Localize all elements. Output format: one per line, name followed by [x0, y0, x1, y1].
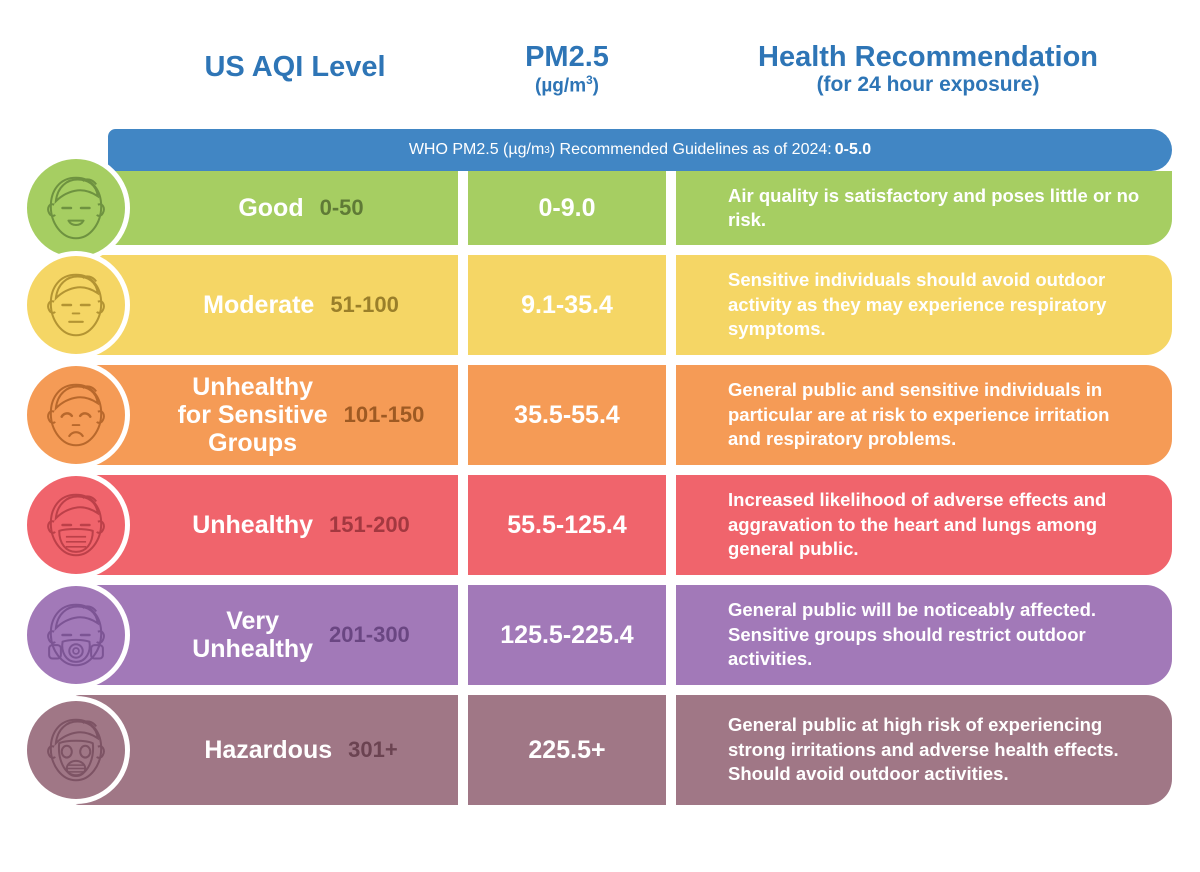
aqi-range-value: 101-150: [344, 402, 425, 428]
recommendation-text: General public and sensitive individuals…: [676, 378, 1172, 451]
aqi-range-value: 151-200: [329, 512, 410, 538]
recommendation-segment: General public and sensitive individuals…: [676, 365, 1172, 465]
recommendation-segment: Air quality is satisfactory and poses li…: [676, 171, 1172, 245]
level-label: Hazardous: [204, 736, 332, 764]
table-row: Good0-500-9.0Air quality is satisfactory…: [0, 171, 1200, 245]
face-neutral-icon: [22, 251, 130, 359]
aqi-range-value: 301+: [348, 737, 398, 763]
table-row: Moderate51-1009.1-35.4Sensitive individu…: [0, 255, 1200, 355]
aqi-range-value: 201-300: [329, 622, 410, 648]
pm25-segment: 125.5-225.4: [468, 585, 666, 685]
level-label: Good: [238, 194, 303, 222]
pm25-range-value: 125.5-225.4: [500, 621, 633, 650]
banner-text-part2: ) Recommended Guidelines as of 2024:: [550, 141, 832, 159]
pm25-range-value: 225.5+: [528, 736, 605, 765]
face-mask-icon: [22, 471, 130, 579]
header-health-title: Health Recommendation: [758, 41, 1098, 73]
recommendation-segment: General public will be noticeably affect…: [676, 585, 1172, 685]
banner-value: 0-5.0: [835, 141, 871, 159]
aqi-range-value: 0-50: [320, 195, 364, 221]
aqi-rows: Good0-500-9.0Air quality is satisfactory…: [0, 171, 1200, 815]
level-label: Moderate: [203, 291, 314, 319]
aqi-chart: US AQI Level PM2.5 (µg/m3) Health Recomm…: [0, 0, 1200, 872]
header-pm25: PM2.5 (µg/m3): [458, 42, 676, 97]
level-label: Very Unhealthy: [192, 607, 313, 663]
table-row: Hazardous301+225.5+General public at hig…: [0, 695, 1200, 805]
face-gasmask-icon: [22, 696, 130, 804]
recommendation-text: General public at high risk of experienc…: [676, 713, 1172, 786]
header-pm25-unit: (µg/m3): [458, 75, 676, 97]
pm25-segment: 225.5+: [468, 695, 666, 805]
pm25-range-value: 55.5-125.4: [507, 511, 627, 540]
face-smiling-icon: [22, 154, 130, 262]
header-pm25-title: PM2.5: [525, 41, 609, 73]
table-row: Unhealthy151-20055.5-125.4Increased like…: [0, 475, 1200, 575]
header-us-aqi-level: US AQI Level: [130, 52, 460, 83]
face-sad-icon: [22, 361, 130, 469]
recommendation-text: Sensitive individuals should avoid outdo…: [676, 268, 1172, 341]
recommendation-text: Increased likelihood of adverse effects …: [676, 488, 1172, 561]
pm25-segment: 9.1-35.4: [468, 255, 666, 355]
level-label: Unhealthy: [192, 511, 313, 539]
pm25-segment: 35.5-55.4: [468, 365, 666, 465]
recommendation-text: General public will be noticeably affect…: [676, 598, 1172, 671]
column-headers: US AQI Level PM2.5 (µg/m3) Health Recomm…: [0, 0, 1200, 128]
pm25-segment: 55.5-125.4: [468, 475, 666, 575]
pm25-range-value: 0-9.0: [539, 194, 596, 223]
recommendation-segment: Increased likelihood of adverse effects …: [676, 475, 1172, 575]
pm25-range-value: 35.5-55.4: [514, 401, 620, 430]
recommendation-text: Air quality is satisfactory and poses li…: [676, 184, 1172, 233]
pm25-segment: 0-9.0: [468, 171, 666, 245]
face-respirator-icon: [22, 581, 130, 689]
aqi-range-value: 51-100: [330, 292, 399, 318]
pm25-range-value: 9.1-35.4: [521, 291, 613, 320]
table-row: Unhealthy for Sensitive Groups101-15035.…: [0, 365, 1200, 465]
recommendation-segment: General public at high risk of experienc…: [676, 695, 1172, 805]
header-health-recommendation: Health Recommendation (for 24 hour expos…: [676, 42, 1180, 97]
header-health-subtitle: (for 24 hour exposure): [676, 74, 1180, 97]
table-row: Very Unhealthy201-300125.5-225.4General …: [0, 585, 1200, 685]
who-guidelines-banner: WHO PM2.5 (µg/m3) Recommended Guidelines…: [108, 129, 1172, 171]
level-label: Unhealthy for Sensitive Groups: [178, 373, 328, 457]
banner-text-part1: WHO PM2.5 (µg/m: [409, 141, 544, 159]
recommendation-segment: Sensitive individuals should avoid outdo…: [676, 255, 1172, 355]
